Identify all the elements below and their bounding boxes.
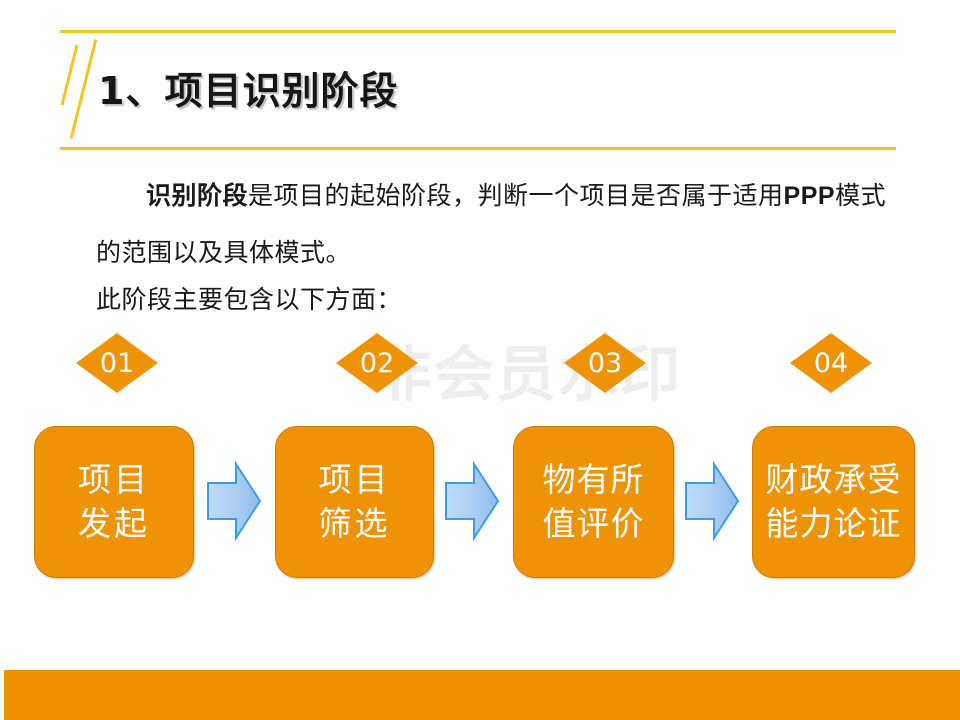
title-bottom-rule <box>60 147 896 150</box>
body-subline: 此阶段主要包含以下方面： <box>96 280 402 316</box>
step-line-2: 值评价 <box>543 502 645 546</box>
process-step-2: 项目 筛选 <box>275 426 434 578</box>
step-line-1: 项目 <box>78 458 150 502</box>
badge-diamond-01: 01 <box>76 333 158 393</box>
badge-diamond-04: 04 <box>790 333 872 393</box>
body-lead-bold: 识别阶段 <box>146 183 248 210</box>
slide-canvas: 1、项目识别阶段 识别阶段是项目的起始阶段，判断一个项目是否属于适用PPP模式的… <box>0 0 960 720</box>
badge-diamond-02: 02 <box>336 333 418 393</box>
step-line-1: 项目 <box>319 458 391 502</box>
arrow-right-icon-2 <box>444 461 500 541</box>
badge-label: 03 <box>564 333 646 393</box>
title-slash-short-icon <box>61 45 79 106</box>
step-line-2: 发起 <box>78 502 150 546</box>
badge-label: 02 <box>336 333 418 393</box>
step-line-1: 物有所 <box>543 458 645 502</box>
process-step-1: 项目 发起 <box>34 426 194 578</box>
step-line-2: 筛选 <box>319 502 391 546</box>
page-title: 1、项目识别阶段 <box>98 60 398 115</box>
process-step-4: 财政承受 能力论证 <box>752 426 915 578</box>
process-step-3: 物有所 值评价 <box>513 426 674 578</box>
body-acronym-ppp: PPP <box>784 182 836 210</box>
arrow-right-icon-3 <box>684 461 740 541</box>
footer-bar <box>4 670 960 720</box>
body-paragraph: 识别阶段是项目的起始阶段，判断一个项目是否属于适用PPP模式的范围以及具体模式。 <box>96 168 896 282</box>
arrow-right-icon-1 <box>206 461 262 541</box>
title-top-rule <box>60 30 896 33</box>
body-text-part1: 是项目的起始阶段，判断一个项目是否属于适用 <box>248 183 784 210</box>
badge-label: 04 <box>790 333 872 393</box>
badge-diamond-03: 03 <box>564 333 646 393</box>
step-line-1: 财政承受 <box>766 458 902 502</box>
badge-label: 01 <box>76 333 158 393</box>
step-line-2: 能力论证 <box>766 502 902 546</box>
